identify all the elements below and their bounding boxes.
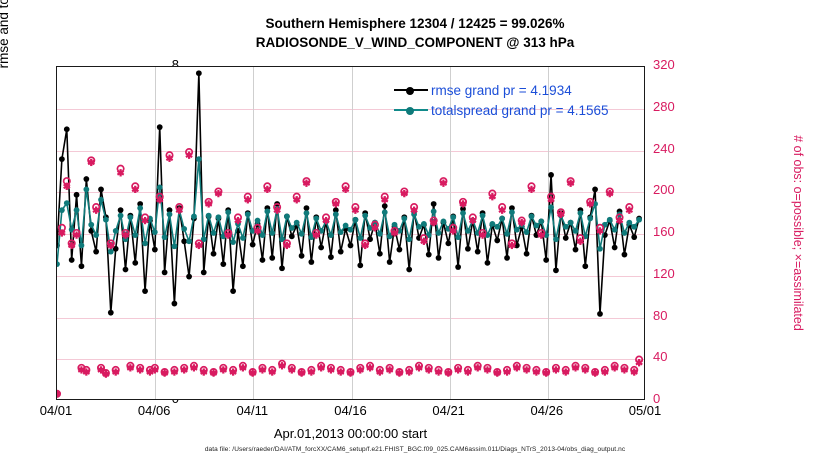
data-point-marker (304, 210, 310, 216)
data-point-marker (196, 156, 202, 162)
y-tick-label-right: 200 (653, 182, 699, 197)
data-point-marker (406, 267, 412, 273)
data-point-marker (524, 229, 530, 235)
legend-label-rmse: rmse grand pr = 4.1934 (431, 83, 572, 98)
data-point-marker (377, 251, 383, 257)
x-tick-label: 04/21 (414, 403, 484, 418)
data-point-marker (172, 243, 178, 249)
data-point-marker (377, 231, 383, 237)
data-point-marker (548, 204, 554, 210)
data-point-marker (636, 217, 642, 223)
x-tick-label: 04/26 (512, 403, 582, 418)
data-point-marker (113, 228, 119, 234)
data-point-marker (59, 207, 65, 213)
y-axis-label-left: rmse and totalspread (0, 0, 11, 120)
x-tick-label: 04/11 (217, 403, 287, 418)
data-point-marker (494, 224, 500, 230)
data-point-marker (186, 274, 192, 280)
data-point-marker (93, 232, 99, 238)
data-point-marker (465, 228, 471, 234)
data-point-marker (108, 310, 114, 316)
data-point-marker (83, 187, 89, 193)
data-point-marker (127, 214, 133, 220)
data-point-marker (74, 207, 80, 213)
data-point-marker (622, 252, 628, 258)
data-point-marker (612, 227, 618, 233)
data-point-marker (299, 253, 305, 259)
data-point-marker (98, 197, 104, 203)
data-point-marker (607, 217, 613, 223)
data-point-marker (260, 257, 266, 263)
data-point-marker (509, 209, 515, 215)
data-point-marker (93, 249, 99, 255)
data-point-marker (626, 220, 632, 226)
x-tick-label: 04/06 (119, 403, 189, 418)
data-point-marker (142, 240, 148, 246)
x-axis-label: Apr.01,2013 00:00:00 start (56, 426, 645, 441)
data-file-footer: data file: /Users/raeder/DAI/ATM_forcXX/… (0, 446, 830, 453)
data-point-marker (98, 187, 104, 193)
data-point-marker (553, 267, 559, 273)
data-point-marker (524, 251, 530, 257)
title-line-2: RADIOSONDE_V_WIND_COMPONENT @ 313 hPa (0, 33, 830, 52)
data-point-marker (392, 222, 398, 228)
data-point-marker (83, 176, 89, 182)
data-point-marker (79, 243, 85, 249)
data-point-marker (338, 249, 344, 255)
data-point-marker (465, 246, 471, 252)
data-point-marker (343, 223, 349, 229)
chart-root: Southern Hemisphere 12304 / 12425 = 99.0… (0, 0, 830, 470)
data-point-marker (269, 255, 275, 261)
chart-title: Southern Hemisphere 12304 / 12425 = 99.0… (0, 14, 830, 52)
x-tick-label: 04/01 (21, 403, 91, 418)
data-point-marker (328, 232, 334, 238)
legend-label-totalspread: totalspread grand pr = 4.1565 (431, 103, 609, 118)
data-point-marker (279, 265, 285, 271)
data-point-marker (240, 235, 246, 241)
data-point-marker (338, 229, 344, 235)
data-point-marker (397, 247, 403, 253)
data-point-marker (563, 235, 569, 241)
data-point-marker (79, 263, 85, 269)
data-point-marker (426, 252, 432, 258)
data-point-marker (401, 216, 407, 222)
title-line-1: Southern Hemisphere 12304 / 12425 = 99.0… (0, 14, 830, 33)
data-point-marker (475, 249, 481, 255)
data-point-marker (553, 236, 559, 242)
y-tick-label-right: 120 (653, 266, 699, 281)
x-tick-label: 05/01 (610, 403, 680, 418)
legend-marker-rmse (406, 87, 414, 95)
y-tick-label-right: 240 (653, 141, 699, 156)
y-tick-label-right: 280 (653, 99, 699, 114)
data-point-marker (548, 172, 554, 178)
data-point-marker (460, 210, 466, 216)
data-point-marker (587, 216, 593, 222)
data-point-marker (57, 261, 60, 267)
data-point-marker (362, 213, 368, 219)
data-point-marker (74, 192, 80, 198)
data-point-marker (294, 220, 300, 226)
data-point-marker (289, 233, 295, 239)
x-tick-label: 04/16 (316, 403, 386, 418)
data-point-marker (436, 230, 442, 236)
data-point-marker (441, 218, 447, 224)
data-point-marker (118, 213, 124, 219)
data-point-marker (313, 216, 319, 222)
data-point-marker (597, 311, 603, 317)
legend-marker-totalspread (406, 107, 414, 115)
data-point-marker (622, 230, 628, 236)
data-point-marker (289, 225, 295, 231)
data-point-marker (299, 231, 305, 237)
data-point-marker (308, 259, 314, 265)
data-point-marker (436, 255, 442, 261)
data-point-marker (152, 229, 158, 235)
data-point-marker (455, 234, 461, 240)
data-point-marker (348, 243, 354, 249)
data-point-marker (250, 242, 256, 248)
data-point-marker (494, 238, 500, 244)
data-point-marker (211, 230, 217, 236)
data-point-marker (64, 200, 70, 206)
data-point-marker (88, 222, 94, 228)
data-point-marker (592, 187, 598, 193)
data-point-marker (108, 249, 114, 255)
data-point-marker (568, 220, 574, 226)
data-point-marker (563, 224, 569, 230)
data-point-marker (387, 259, 393, 265)
data-point-marker (445, 240, 451, 246)
y-tick-label-right: 80 (653, 308, 699, 323)
data-point-marker (167, 211, 173, 217)
data-point-marker (191, 214, 197, 220)
data-point-marker (573, 228, 579, 234)
data-point-marker (582, 263, 588, 269)
data-point-marker (406, 236, 412, 242)
data-point-marker (64, 126, 70, 132)
data-point-marker (157, 184, 163, 190)
data-point-marker (533, 223, 539, 229)
legend-item-rmse: rmse grand pr = 4.1934 (394, 80, 609, 100)
data-point-marker (225, 209, 231, 215)
data-point-marker (450, 214, 456, 220)
data-point-marker (142, 288, 148, 294)
data-point-marker (69, 257, 75, 263)
data-point-marker (333, 211, 339, 217)
data-point-marker (264, 209, 270, 215)
data-point-marker (230, 288, 236, 294)
y-tick-label-right: 320 (653, 57, 699, 72)
data-point-marker (220, 261, 226, 267)
data-point-marker (157, 124, 163, 130)
y-axis-label-right: # of obs: o=possible; ×=assimilated (791, 66, 805, 400)
data-point-marker (132, 232, 138, 238)
data-point-marker (529, 214, 535, 220)
data-point-marker (480, 213, 486, 219)
data-point-marker (578, 210, 584, 216)
y-tick-label-right: 160 (653, 224, 699, 239)
data-point-marker (631, 234, 637, 240)
legend-item-totalspread: totalspread grand pr = 4.1565 (394, 100, 609, 120)
data-point-marker (431, 209, 437, 215)
data-point-marker (416, 224, 422, 230)
legend-line-totalspread (394, 109, 428, 111)
data-point-marker (152, 247, 158, 253)
data-point-marker (240, 263, 246, 269)
data-point-marker (597, 246, 603, 252)
data-point-marker (538, 218, 544, 224)
data-point-marker (485, 260, 491, 266)
data-point-marker (59, 156, 65, 162)
data-point-marker (196, 70, 202, 76)
data-point-marker (137, 205, 143, 211)
data-point-marker (201, 270, 207, 276)
data-point-marker (499, 216, 505, 222)
data-point-marker (304, 205, 310, 211)
y-tick-label-right: 40 (653, 349, 699, 364)
legend-line-rmse (394, 89, 428, 91)
data-point-marker (348, 227, 354, 233)
data-point-marker (132, 260, 138, 266)
data-point-marker (118, 207, 124, 213)
data-point-marker (318, 245, 324, 251)
data-point-marker (357, 262, 363, 268)
data-point-marker (612, 245, 618, 251)
data-point-marker (245, 211, 251, 217)
data-point-marker (631, 224, 637, 230)
data-point-marker (172, 301, 178, 307)
data-point-marker (269, 230, 275, 236)
data-point-marker (382, 203, 388, 209)
data-point-marker (230, 239, 236, 245)
data-point-marker (357, 235, 363, 241)
data-point-marker (162, 270, 168, 276)
data-point-marker (504, 255, 510, 261)
data-point-marker (573, 247, 579, 253)
data-point-marker (489, 221, 495, 227)
chart-legend: rmse grand pr = 4.1934 totalspread grand… (394, 80, 609, 120)
data-point-marker (123, 267, 129, 273)
data-point-marker (514, 227, 520, 233)
data-point-marker (543, 257, 549, 263)
data-point-marker (431, 201, 437, 207)
data-point-marker (382, 209, 388, 215)
data-point-marker (353, 217, 359, 223)
data-point-marker (206, 213, 212, 219)
data-point-marker (216, 214, 222, 220)
data-point-marker (421, 221, 427, 227)
data-point-marker (103, 217, 109, 223)
data-point-marker (211, 251, 217, 257)
data-point-marker (504, 231, 510, 237)
data-point-marker (162, 234, 168, 240)
data-point-marker (284, 214, 290, 220)
data-point-marker (328, 254, 334, 260)
data-point-marker (455, 264, 461, 270)
data-point-marker (255, 218, 261, 224)
data-point-marker (181, 226, 187, 232)
data-point-marker (186, 238, 192, 244)
